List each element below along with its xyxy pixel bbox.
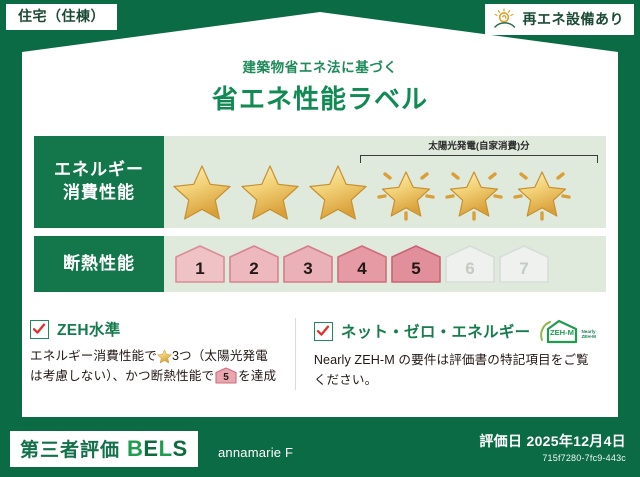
zeh-panel: ZEH水準 エネルギー消費性能で3つ（太陽光発電は考慮しない）、かつ断熱性能で5… — [30, 318, 295, 390]
evaluation-date-label: 評価日 — [479, 433, 522, 449]
insulation-level-value: 5 — [411, 260, 420, 284]
building-type-chip: 住宅（住棟） — [6, 4, 117, 30]
bels-letter-e: E — [143, 436, 158, 461]
evaluation-date-value: 2025年12月4日 — [526, 433, 626, 449]
insulation-level-badge: 5 — [390, 244, 442, 284]
bels-logo: BELS — [127, 438, 188, 460]
energy-performance-row: エネルギー 消費性能 太陽光発電(自家消費)分 — [34, 136, 606, 228]
renewable-energy-label: 再エネ設備あり — [523, 9, 625, 29]
solar-star-icon — [372, 160, 440, 224]
insulation-level-badge: 2 — [228, 244, 280, 284]
star-icon — [168, 160, 236, 224]
bels-chip: 第三者評価 BELS — [10, 431, 198, 467]
third-party-label: 第三者評価 — [20, 435, 120, 462]
energy-label-line1: エネルギー — [54, 159, 144, 182]
insulation-level-badge: 1 — [174, 244, 226, 284]
solar-star-icon — [508, 160, 576, 224]
building-name: annamarie F — [218, 445, 293, 460]
energy-performance-label: エネルギー 消費性能 — [34, 136, 164, 228]
nzeb-panel-header: ネット・ゼロ・エネルギー ZEH-M Nearly ZEH-M — [314, 318, 596, 344]
evaluation-date: 評価日 2025年12月4日 — [479, 431, 626, 451]
evaluation-info: 評価日 2025年12月4日 715f7280-7fc9-443c — [479, 431, 626, 463]
zeh-panel-header: ZEH水準 — [30, 318, 281, 340]
zeh-m-sub-line2: ZEH-M — [581, 334, 596, 339]
insulation-level-list: 1 2 3 4 5 — [174, 244, 550, 284]
inline-badge-value: 5 — [215, 373, 237, 383]
insulation-level-value: 6 — [465, 260, 474, 284]
title-block: 建築物省エネ法に基づく 省エネ性能ラベル — [0, 56, 640, 116]
star-rating — [168, 160, 606, 224]
solar-bracket: 太陽光発電(自家消費)分 — [360, 142, 598, 160]
inline-star-icon — [157, 349, 172, 364]
svg-text:ZEH-M: ZEH-M — [550, 328, 574, 337]
star-icon — [236, 160, 304, 224]
net-zero-energy-panel: ネット・ゼロ・エネルギー ZEH-M Nearly ZEH-M Nearly Z… — [295, 318, 610, 390]
footer: 第三者評価 BELS annamarie F 評価日 2025年12月4日 71… — [0, 419, 640, 477]
zeh-star-count-text: 3つ（太陽光発電 — [172, 349, 268, 363]
nzeb-description: Nearly ZEH-M の要件は評価書の特記項目をご覧ください。 — [314, 351, 596, 390]
insulation-level-value: 7 — [519, 260, 528, 284]
solar-bracket-caption: 太陽光発電(自家消費)分 — [360, 142, 598, 152]
zeh-title: ZEH水準 — [57, 318, 121, 340]
zeh-text-part2: は考慮しない）、かつ断熱性能で — [30, 369, 214, 383]
energy-label-root: 住宅（住棟） 再エネ設備あり 建築物省エネ法に基づく 省エネ性能ラベル — [0, 0, 640, 477]
zeh-text-part3: を達成 — [238, 369, 276, 383]
zeh-text-part1: エネルギー消費性能で — [30, 349, 157, 363]
zeh-description: エネルギー消費性能で3つ（太陽光発電は考慮しない）、かつ断熱性能で5を達成 — [30, 347, 281, 386]
insulation-level-badge: 3 — [282, 244, 334, 284]
insulation-level-badge: 4 — [336, 244, 388, 284]
evaluation-id: 715f7280-7fc9-443c — [479, 453, 626, 463]
insulation-level-value: 4 — [357, 260, 366, 284]
checkbox-checked-icon — [314, 322, 333, 341]
performance-rows: エネルギー 消費性能 太陽光発電(自家消費)分 — [34, 136, 606, 300]
insulation-performance-label: 断熱性能 — [34, 236, 164, 292]
zeh-m-logo: ZEH-M Nearly ZEH-M — [538, 318, 596, 344]
building-type-label: 住宅（住棟） — [18, 8, 105, 24]
nzeb-title: ネット・ゼロ・エネルギー — [341, 320, 531, 342]
star-icon — [304, 160, 372, 224]
energy-star-area: 太陽光発電(自家消費)分 — [164, 136, 606, 228]
zeh-m-logo-sub: Nearly ZEH-M — [581, 330, 596, 344]
inline-insulation-badge: 5 — [215, 367, 237, 384]
sun-icon — [493, 8, 517, 30]
insulation-level-area: 1 2 3 4 5 — [164, 236, 606, 292]
bels-letter-b: B — [127, 436, 143, 461]
insulation-performance-row: 断熱性能 1 2 3 — [34, 236, 606, 292]
insulation-level-value: 1 — [195, 260, 204, 284]
insulation-label: 断熱性能 — [63, 253, 135, 276]
solar-star-icon — [440, 160, 508, 224]
insulation-level-badge: 6 — [444, 244, 496, 284]
bels-letter-l: L — [159, 436, 173, 461]
insulation-level-value: 2 — [249, 260, 258, 284]
energy-label-line2: 消費性能 — [63, 182, 135, 205]
info-panels: ZEH水準 エネルギー消費性能で3つ（太陽光発電は考慮しない）、かつ断熱性能で5… — [30, 318, 610, 390]
insulation-level-badge: 7 — [498, 244, 550, 284]
insulation-level-value: 3 — [303, 260, 312, 284]
page-title: 省エネ性能ラベル — [0, 79, 640, 116]
bels-letter-s: S — [173, 436, 188, 461]
checkbox-checked-icon — [30, 320, 49, 339]
title-subtitle: 建築物省エネ法に基づく — [0, 56, 640, 76]
renewable-energy-chip: 再エネ設備あり — [485, 4, 635, 35]
